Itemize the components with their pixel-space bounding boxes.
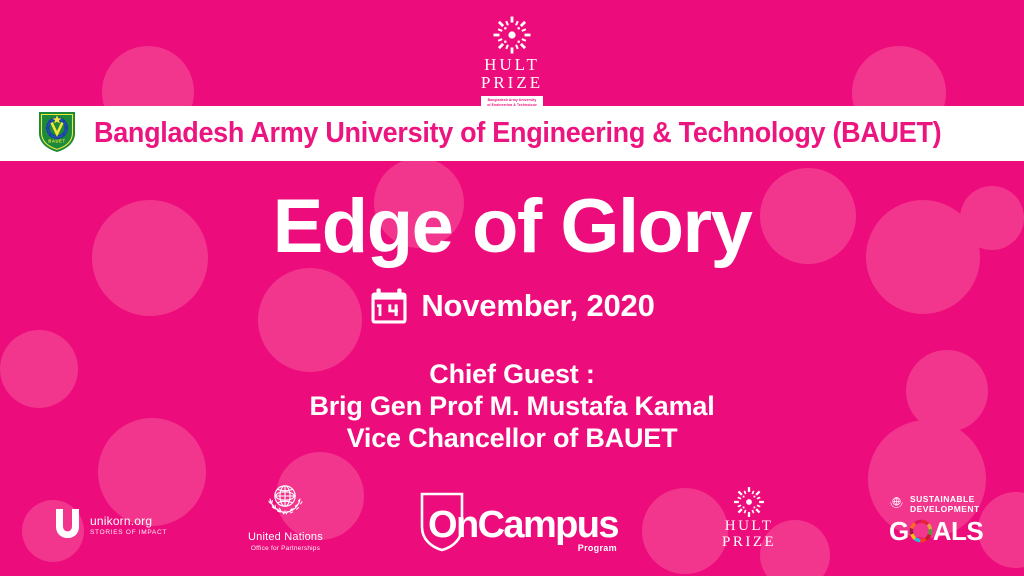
bauet-crest-icon: BAUET xyxy=(36,109,78,158)
unikorn-text: unikorn.org STORIES OF IMPACT xyxy=(90,515,167,537)
sdg-goals-wordmark: G xyxy=(889,518,983,544)
united-nations-line1: United Nations xyxy=(248,531,323,543)
event-date: November, 2020 xyxy=(0,286,1024,326)
university-banner: BAUET Bangladesh Army University of Engi… xyxy=(0,106,1024,161)
hult-prize-word-line1: HULT xyxy=(484,56,540,73)
un-emblem-icon xyxy=(262,476,308,527)
hult-prize-caption-line1: Bangladesh Army University xyxy=(487,98,537,103)
hult-starburst-icon xyxy=(491,14,533,56)
united-nations-line2: Office for Partnerships xyxy=(251,545,320,552)
sdg-text-lines: SUSTAINABLE DEVELOPMENT xyxy=(910,495,980,514)
un-emblem-icon xyxy=(888,494,905,516)
banner-title: Bangladesh Army University of Engineerin… xyxy=(94,117,941,150)
hult-prize-footer-line1: HULT xyxy=(725,519,774,534)
sdg-goals-left: G xyxy=(889,518,909,544)
sdg-logo: SUSTAINABLE DEVELOPMENT G xyxy=(888,494,983,544)
unikorn-tagline: STORIES OF IMPACT xyxy=(90,530,167,537)
sdg-goals-right: ALS xyxy=(933,518,984,544)
hult-starburst-icon xyxy=(732,485,766,519)
oncampus-shield-icon xyxy=(419,491,465,558)
calendar-icon xyxy=(369,286,409,326)
oncampus-logo: OnCampus Program xyxy=(428,506,618,544)
hult-prize-footer-line2: PRIZE xyxy=(722,535,776,550)
chief-guest-name: Brig Gen Prof M. Mustafa Kamal xyxy=(0,390,1024,422)
sdg-top-row: SUSTAINABLE DEVELOPMENT xyxy=(888,494,980,516)
oncampus-wrap: OnCampus Program xyxy=(428,506,618,544)
oncampus-sub: Program xyxy=(578,543,617,553)
hult-prize-logo-footer: HULT PRIZE xyxy=(722,485,776,550)
unikorn-u-icon xyxy=(52,507,82,544)
united-nations-logo: United Nations Office for Partnerships xyxy=(248,476,323,552)
hult-prize-logo-top: HULT PRIZE Bangladesh Army University of… xyxy=(0,14,1024,110)
chief-guest-designation: Vice Chancellor of BAUET xyxy=(0,422,1024,454)
footer-logos: unikorn.org STORIES OF IMPACT xyxy=(0,484,1024,560)
event-poster: HULT PRIZE Bangladesh Army University of… xyxy=(0,0,1024,576)
sdg-color-wheel-icon xyxy=(909,519,933,543)
chief-guest-label: Chief Guest : xyxy=(0,358,1024,390)
svg-text:BAUET: BAUET xyxy=(48,138,65,143)
sdg-line2: DEVELOPMENT xyxy=(910,505,980,515)
page-title: Edge of Glory xyxy=(0,183,1024,270)
event-date-text: November, 2020 xyxy=(421,288,654,324)
chief-guest-block: Chief Guest : Brig Gen Prof M. Mustafa K… xyxy=(0,358,1024,454)
unikorn-name: unikorn.org xyxy=(90,515,167,527)
unikorn-logo: unikorn.org STORIES OF IMPACT xyxy=(52,507,167,544)
hult-prize-word-line2: PRIZE xyxy=(481,74,543,91)
